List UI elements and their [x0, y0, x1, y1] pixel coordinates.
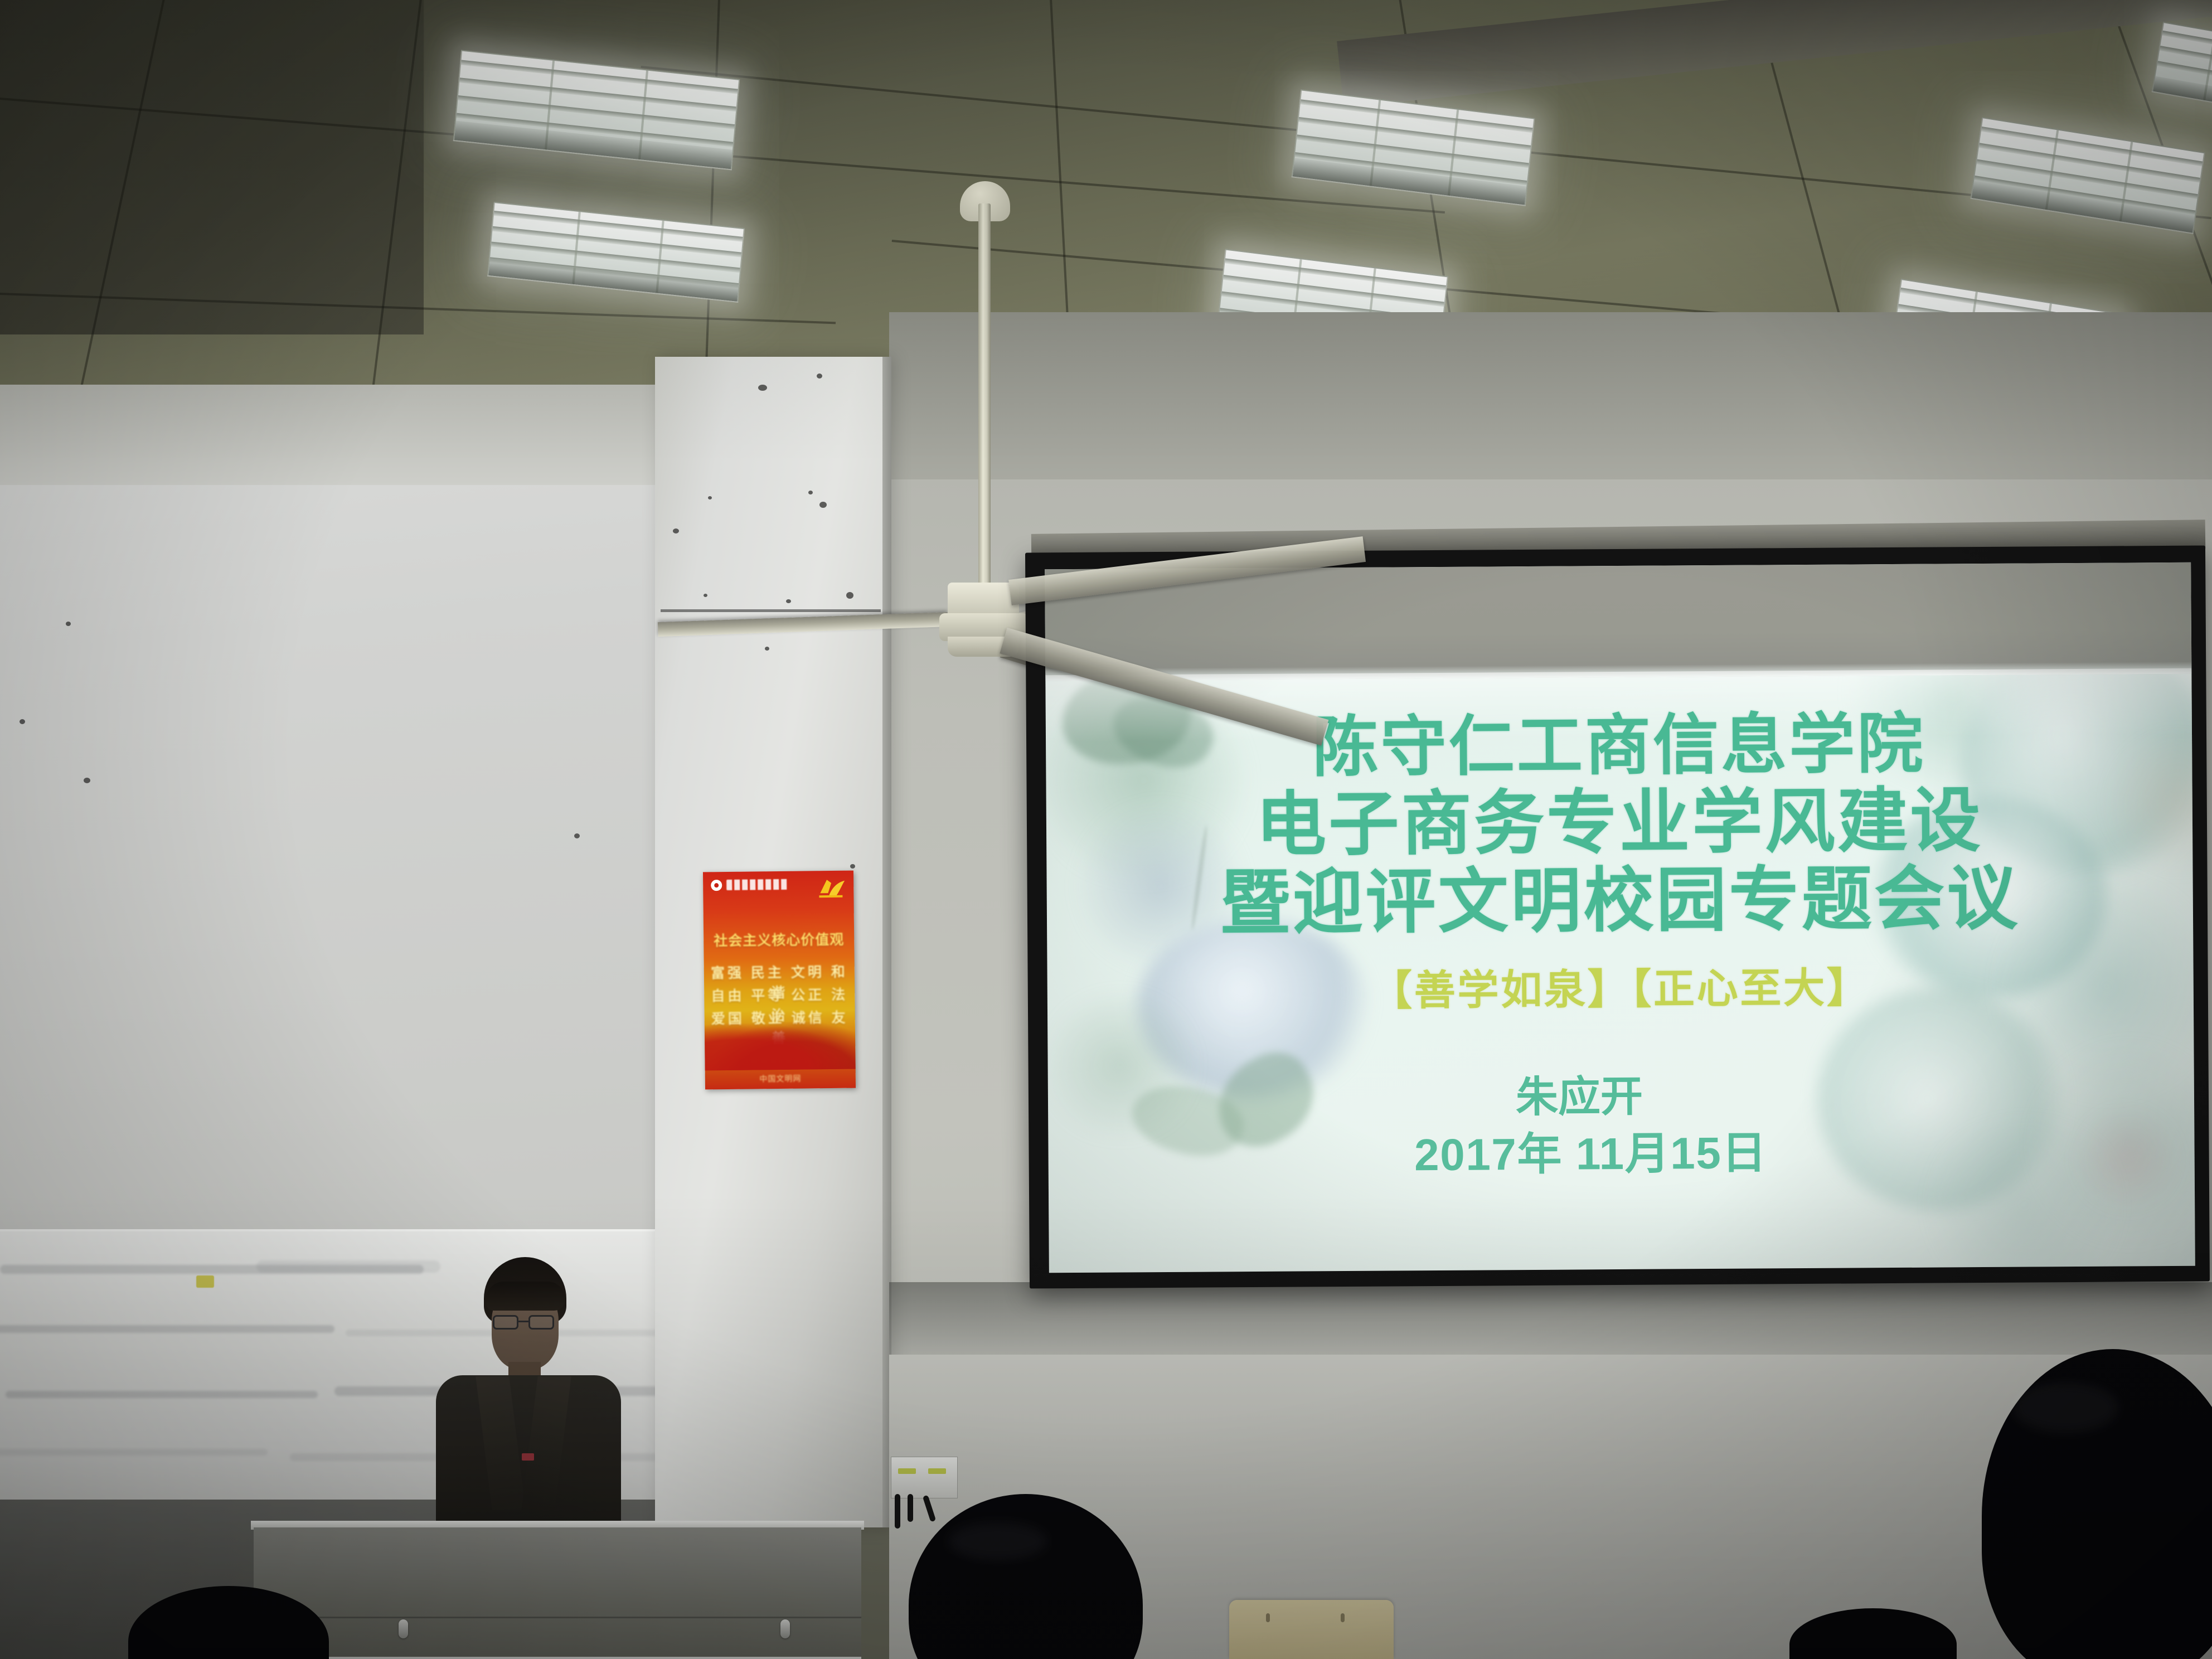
wall-blemish: [819, 502, 827, 508]
chair-back: [1229, 1600, 1394, 1659]
poster-logo-icon: [711, 880, 722, 891]
lectern: [254, 1527, 861, 1659]
ceiling-dark-area: [0, 0, 424, 334]
poster-wave-graphic: [705, 1021, 856, 1071]
whiteboard-sticker: [196, 1275, 214, 1288]
glasses-icon: [493, 1315, 518, 1330]
slide-date: 2017年 11月15日: [1048, 1114, 2195, 1186]
wall-blemish: [20, 719, 25, 724]
wall-blemish: [758, 385, 767, 391]
wall-blemish: [850, 864, 855, 869]
ceiling-grid-line: [1048, 0, 1071, 356]
outlet-socket[interactable]: [898, 1468, 916, 1474]
poster-logo-text: [726, 879, 788, 890]
ceiling-beam: [1337, 0, 2212, 108]
poster-footer: 中国文明网: [705, 1073, 856, 1085]
slide-title-line-3: 暨迎评文明校园专题会议: [1046, 861, 2193, 941]
slide-title-line-1: 陈守仁工商信息学院: [1046, 709, 2192, 784]
slide-content: 陈守仁工商信息学院 电子商务专业学风建设 暨迎评文明校园专题会议 【善学如泉】【…: [1045, 668, 2195, 1273]
wall-blemish: [817, 373, 822, 379]
wall-blemish: [574, 833, 580, 838]
ceiling-grid-line: [704, 0, 721, 390]
wall-blemish: [786, 599, 791, 603]
lectern-knob[interactable]: [780, 1619, 790, 1638]
wall-blemish: [846, 592, 853, 599]
wall-outlet[interactable]: [891, 1457, 958, 1498]
presenter-fringe: [486, 1282, 565, 1311]
presenter-badge: [522, 1453, 534, 1461]
fan-motor-housing: [948, 583, 1019, 617]
ceiling-light: [453, 50, 740, 170]
chair-hole: [1266, 1613, 1270, 1622]
poster-heading: 社会主义核心价值观: [704, 929, 854, 950]
wall-blemish: [808, 491, 813, 494]
wall-shadow-band: [889, 1282, 2212, 1360]
power-cable: [908, 1494, 913, 1522]
lecture-hall-photo: 陈守仁工商信息学院 电子商务专业学风建设 暨迎评文明校园专题会议 【善学如泉】【…: [0, 0, 2212, 1659]
wall-blemish: [708, 496, 712, 499]
wall-blemish: [704, 594, 707, 597]
chair-hole: [1341, 1613, 1345, 1622]
lectern-knob[interactable]: [399, 1619, 408, 1638]
wall-blemish: [673, 528, 679, 533]
ceiling-light: [1292, 89, 1535, 206]
wall-blemish: [66, 622, 71, 626]
fan-downrod: [978, 203, 991, 596]
outlet-socket[interactable]: [928, 1468, 946, 1474]
slide-motto: 【善学如泉】【正心至大】: [1047, 953, 2194, 1020]
right-wall-upper-band: [889, 312, 2212, 479]
projected-slide: 陈守仁工商信息学院 电子商务专业学风建设 暨迎评文明校园专题会议 【善学如泉】【…: [1045, 562, 2195, 1273]
power-cable: [895, 1494, 900, 1529]
glasses-icon: [528, 1315, 554, 1330]
wall-blemish: [765, 647, 769, 651]
core-values-poster: 社会主义核心价值观 富强 民主 文明 和谐 自由 平等 公正 法治 爱国 敬业 …: [703, 871, 856, 1090]
ceiling-light: [2152, 22, 2212, 118]
ceiling-light: [1970, 117, 2205, 234]
ceiling-light: [487, 202, 745, 303]
hair-highlight: [948, 1522, 1048, 1561]
party-emblem-icon: [817, 876, 846, 900]
glasses-bridge: [518, 1321, 528, 1322]
slide-title-line-2: 电子商务专业学风建设: [1046, 783, 2193, 863]
lectern-seam: [254, 1617, 861, 1618]
wall-blemish: [84, 778, 90, 783]
pillar-seam: [661, 609, 881, 612]
hair-highlight: [2012, 1382, 2118, 1433]
